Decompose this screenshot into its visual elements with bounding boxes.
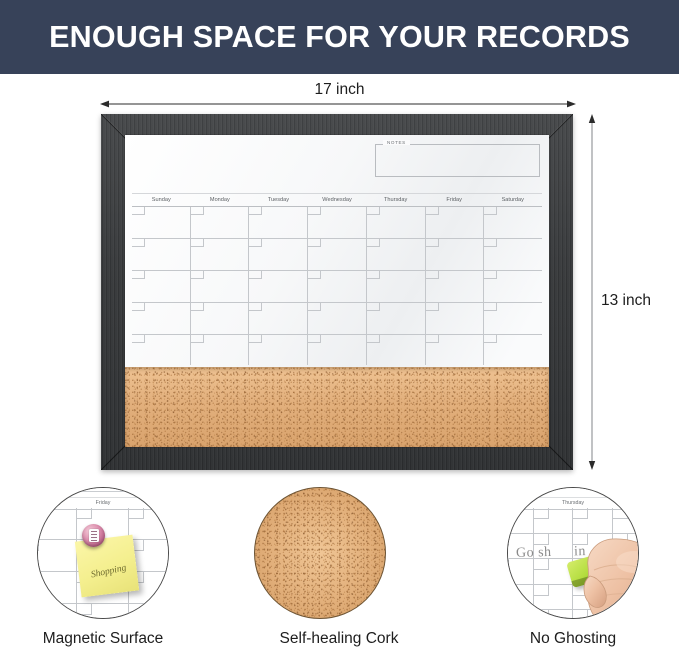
mini-date-number-box — [37, 604, 39, 615]
calendar-day-cell[interactable] — [249, 207, 308, 238]
date-number-box[interactable] — [308, 303, 321, 311]
date-number-box[interactable] — [249, 335, 262, 343]
calendar-day-cell[interactable] — [191, 239, 250, 270]
calendar-day-cell[interactable] — [308, 239, 367, 270]
sticky-note-text: Shopping — [82, 562, 135, 583]
date-number-box[interactable] — [132, 207, 145, 215]
mini-date-number-box — [613, 508, 628, 519]
date-number-box[interactable] — [191, 335, 204, 343]
date-number-box[interactable] — [132, 239, 145, 247]
calendar-board: NOTES Sunday Monday Tuesday Wednesday Th… — [101, 114, 573, 470]
height-dimension-arrow — [586, 114, 598, 470]
calendar-day-cell[interactable] — [484, 239, 542, 270]
mini-day-cell — [534, 610, 574, 619]
feature-caption-cork: Self-healing Cork — [254, 630, 424, 648]
magnet-glyph-icon — [89, 529, 99, 542]
feature-circle-cork — [254, 487, 386, 619]
mini-day-cell — [37, 572, 77, 603]
date-number-box[interactable] — [191, 207, 204, 215]
mini-day-cell — [507, 585, 534, 610]
handwriting-visible: Go sh — [516, 545, 552, 561]
calendar-day-cell[interactable] — [426, 271, 485, 302]
date-number-box[interactable] — [426, 271, 439, 279]
calendar-day-cell[interactable] — [249, 303, 308, 334]
mini-day-cell — [534, 508, 574, 533]
sticky-note[interactable]: Shopping — [75, 535, 139, 598]
mini-day-cell — [37, 540, 77, 571]
calendar-day-cell[interactable] — [367, 335, 426, 366]
calendar-day-cell[interactable] — [308, 303, 367, 334]
mini-date-number-box — [129, 604, 144, 615]
calendar-week-row — [132, 271, 542, 303]
date-number-box[interactable] — [249, 239, 262, 247]
mini-day-cell — [37, 508, 77, 539]
calendar-day-cell[interactable] — [367, 303, 426, 334]
day-header-wednesday: Wednesday — [308, 194, 367, 206]
mini-day-cell — [129, 508, 169, 539]
day-header-tuesday: Tuesday — [249, 194, 308, 206]
mini-day-cell — [613, 508, 640, 533]
day-header-monday: Monday — [191, 194, 250, 206]
whiteboard-calendar[interactable]: NOTES Sunday Monday Tuesday Wednesday Th… — [125, 135, 549, 367]
date-number-box[interactable] — [132, 335, 145, 343]
date-number-box[interactable] — [191, 271, 204, 279]
feature-self-healing-cork: Self-healing Cork — [254, 487, 424, 648]
header-banner: ENOUGH SPACE FOR YOUR RECORDS — [0, 0, 679, 74]
calendar-day-cell[interactable] — [484, 271, 542, 302]
calendar-grid: Sunday Monday Tuesday Wednesday Thursday… — [132, 193, 542, 365]
mini-date-number-box — [534, 610, 549, 619]
calendar-week-row — [132, 207, 542, 239]
calendar-day-cell[interactable] — [426, 335, 485, 366]
calendar-day-cell[interactable] — [249, 239, 308, 270]
date-number-box[interactable] — [367, 335, 380, 343]
calendar-day-cell[interactable] — [367, 207, 426, 238]
day-header-friday: Friday — [425, 194, 484, 206]
date-number-box[interactable] — [249, 207, 262, 215]
date-number-box[interactable] — [191, 239, 204, 247]
date-number-box[interactable] — [426, 207, 439, 215]
mini-day-cell — [573, 508, 613, 533]
date-number-box[interactable] — [484, 207, 497, 215]
mini-date-number-box — [534, 508, 549, 519]
calendar-day-cell[interactable] — [191, 335, 250, 366]
date-number-box[interactable] — [249, 303, 262, 311]
calendar-week-rows — [132, 207, 542, 365]
calendar-day-cell[interactable] — [426, 207, 485, 238]
mini-date-number-box — [77, 508, 92, 519]
calendar-day-cell[interactable] — [426, 239, 485, 270]
calendar-week-row — [132, 303, 542, 335]
mini-day-cell — [77, 604, 130, 619]
magnet-icon[interactable] — [82, 524, 105, 547]
mini-date-number-box — [37, 508, 39, 519]
date-number-box[interactable] — [484, 303, 497, 311]
notes-label: NOTES — [383, 140, 410, 145]
mini-date-number-box — [507, 534, 509, 545]
mini-date-number-box — [77, 604, 92, 615]
date-number-box[interactable] — [191, 303, 204, 311]
calendar-day-cell[interactable] — [484, 207, 542, 238]
height-dimension-label: 13 inch — [601, 292, 651, 310]
mini-date-number-box — [507, 610, 509, 619]
date-number-box[interactable] — [426, 303, 439, 311]
mini-date-number-box — [507, 508, 509, 519]
mini-notes-box — [60, 487, 146, 492]
mini-date-number-box — [534, 585, 549, 596]
mini-day-cell — [534, 585, 574, 610]
calendar-week-row — [132, 239, 542, 271]
feature-no-ghosting: Thursday Go shoppin — [488, 487, 658, 648]
date-number-box[interactable] — [308, 335, 321, 343]
mini-date-number-box — [507, 585, 509, 596]
calendar-day-cell[interactable] — [367, 239, 426, 270]
width-dimension-arrow — [100, 98, 576, 110]
date-number-box[interactable] — [308, 239, 321, 247]
calendar-day-cell[interactable] — [249, 271, 308, 302]
calendar-day-cell[interactable] — [484, 335, 542, 366]
mini-day-cell — [507, 559, 534, 584]
date-number-box[interactable] — [426, 239, 439, 247]
day-header-sunday: Sunday — [132, 194, 191, 206]
date-number-box[interactable] — [484, 335, 497, 343]
calendar-day-cell[interactable] — [132, 335, 191, 366]
page-title: ENOUGH SPACE FOR YOUR RECORDS — [49, 20, 630, 55]
mini-date-number-box — [534, 534, 549, 545]
calendar-day-cell[interactable] — [132, 207, 191, 238]
feature-circle-no-ghosting: Thursday Go shoppin — [507, 487, 639, 619]
board-inner-surface: NOTES Sunday Monday Tuesday Wednesday Th… — [125, 135, 549, 447]
hand-icon — [582, 530, 639, 619]
day-of-week-header-row: Sunday Monday Tuesday Wednesday Thursday… — [132, 193, 542, 207]
mini-day-cell — [507, 610, 534, 619]
mini-date-number-box — [129, 508, 144, 519]
date-number-box[interactable] — [484, 271, 497, 279]
mini-date-number-box — [573, 508, 588, 519]
calendar-day-cell[interactable] — [191, 303, 250, 334]
feature-magnetic-surface: Thursday Friday Saturday Shopping Magnet… — [18, 487, 188, 648]
date-number-box[interactable] — [308, 271, 321, 279]
feature-circle-magnetic: Thursday Friday Saturday Shopping — [37, 487, 169, 619]
mini-date-number-box — [37, 540, 39, 551]
date-number-box[interactable] — [367, 239, 380, 247]
calendar-week-row — [132, 335, 542, 366]
mini-date-number-box — [37, 572, 39, 583]
date-number-box[interactable] — [132, 271, 145, 279]
day-header-saturday: Saturday — [483, 194, 542, 206]
calendar-day-cell[interactable] — [308, 335, 367, 366]
mini-day-cell — [37, 604, 77, 619]
feature-caption-magnetic: Magnetic Surface — [18, 630, 188, 648]
width-dimension-label: 17 inch — [0, 81, 679, 99]
calendar-day-cell[interactable] — [132, 303, 191, 334]
calendar-day-cell[interactable] — [308, 207, 367, 238]
date-number-box[interactable] — [132, 303, 145, 311]
calendar-day-cell[interactable] — [191, 207, 250, 238]
date-number-box[interactable] — [249, 271, 262, 279]
date-number-box[interactable] — [367, 303, 380, 311]
calendar-day-cell[interactable] — [426, 303, 485, 334]
calendar-day-cell[interactable] — [191, 271, 250, 302]
date-number-box[interactable] — [308, 207, 321, 215]
date-number-box[interactable] — [367, 271, 380, 279]
calendar-day-cell[interactable] — [367, 271, 426, 302]
date-number-box[interactable] — [484, 239, 497, 247]
calendar-day-cell[interactable] — [249, 335, 308, 366]
calendar-day-cell[interactable] — [132, 271, 191, 302]
calendar-day-cell[interactable] — [132, 239, 191, 270]
calendar-day-cell[interactable] — [308, 271, 367, 302]
mini-day-cell — [507, 508, 534, 533]
feature-caption-no-ghosting: No Ghosting — [488, 630, 658, 648]
date-number-box[interactable] — [367, 207, 380, 215]
cork-strip[interactable] — [125, 367, 549, 447]
date-number-box[interactable] — [426, 335, 439, 343]
mini-day-cell — [129, 604, 169, 619]
day-header-thursday: Thursday — [366, 194, 425, 206]
mini-date-number-box — [507, 559, 509, 570]
calendar-day-cell[interactable] — [484, 303, 542, 334]
notes-box[interactable]: NOTES — [375, 144, 540, 177]
mini-week-row — [37, 604, 169, 619]
